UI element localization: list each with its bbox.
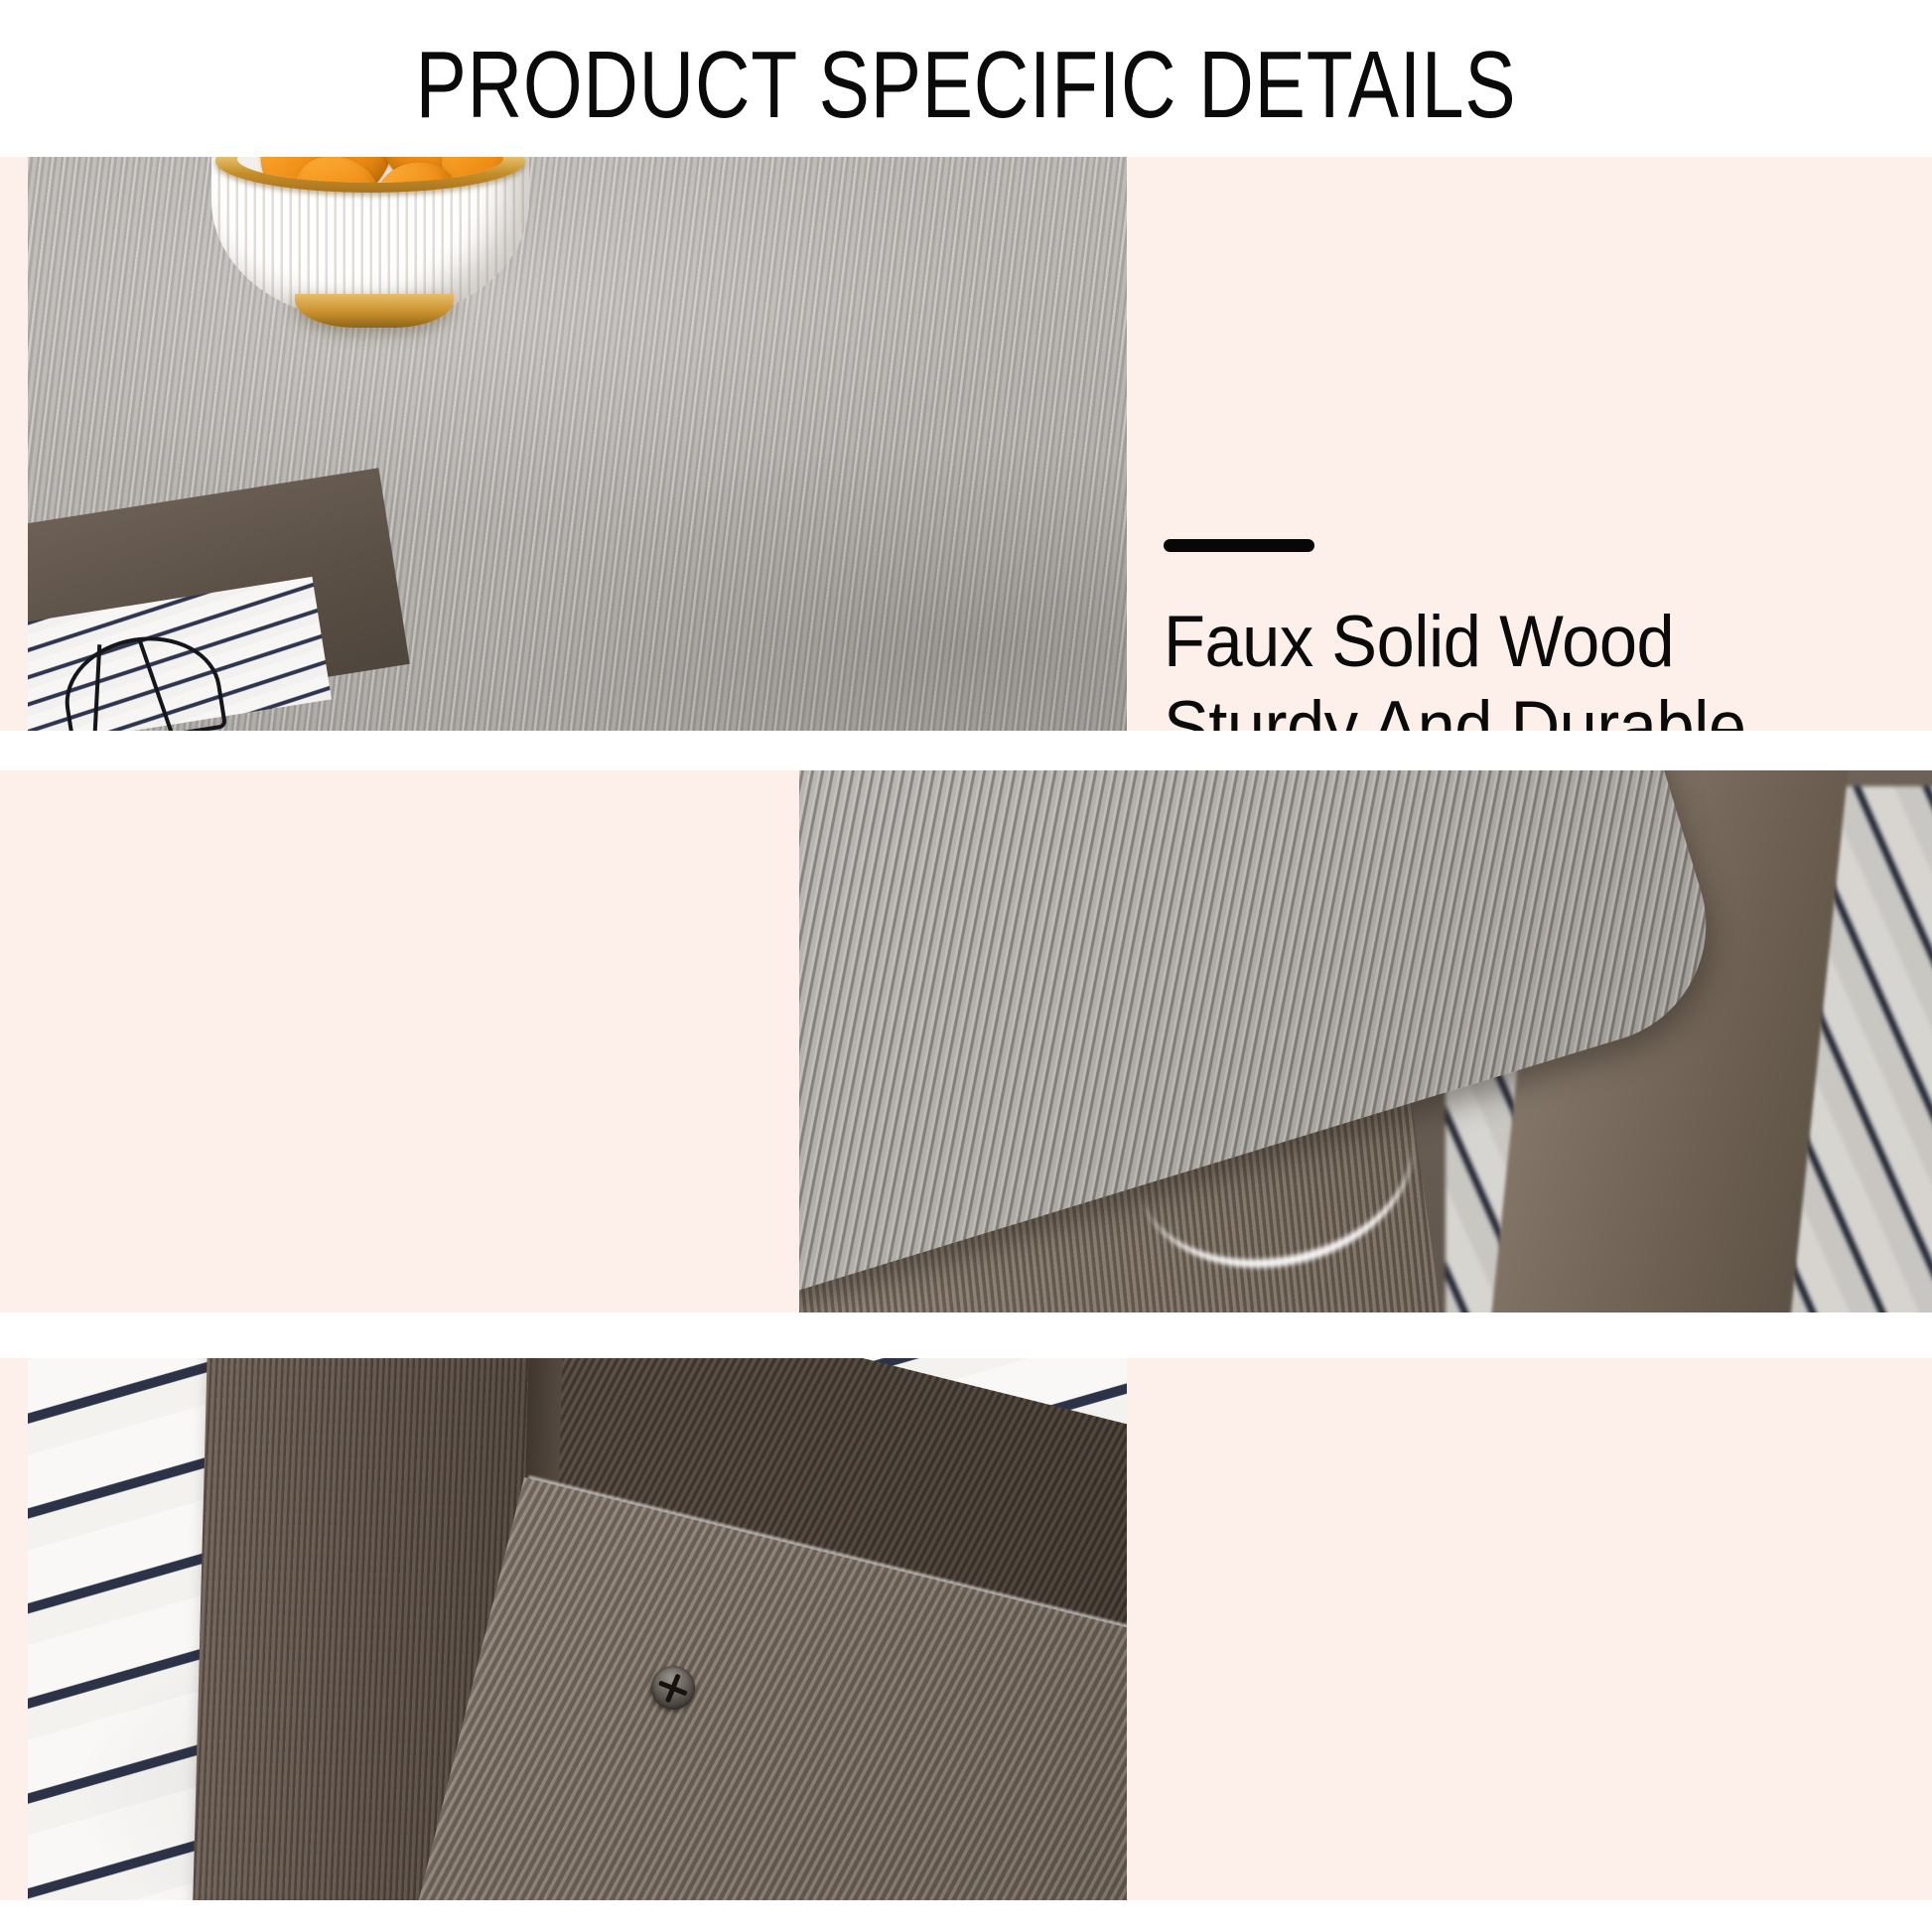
- feature-caption-line: Faux Solid Wood: [1164, 600, 1761, 685]
- leg-scene: [28, 1358, 1127, 1900]
- accent-dash-icon: [1164, 539, 1314, 552]
- bowl-interior: [237, 157, 503, 183]
- product-photo-rounded-corner: [799, 770, 1932, 1312]
- product-photo-table-top: [28, 157, 1127, 731]
- ceramic-bowl: [211, 157, 529, 357]
- detail-panel-faux-solid-wood: Faux Solid Wood Sturdy And Durable: [0, 157, 1932, 731]
- detail-panel-made-of-mdf: Made of MDF Stable Support: [0, 1358, 1932, 1900]
- page-title: PRODUCT SPECIFIC DETAILS: [194, 34, 1739, 137]
- detail-panel-rounded-edge: Rounded Edge Anti-knock: [0, 770, 1932, 1312]
- feature-caption-line: Sturdy And Durable: [1164, 685, 1761, 731]
- feature-caption: Faux Solid Wood Sturdy And Durable: [1164, 600, 1761, 731]
- corner-scene: [799, 770, 1932, 1312]
- product-details-page: PRODUCT SPECIFIC DETAILS: [0, 0, 1932, 1932]
- bowl-gold-foot: [295, 294, 454, 328]
- product-photo-leg-and-shelf: [28, 1358, 1127, 1900]
- feature-text-faux-solid-wood: Faux Solid Wood Sturdy And Durable: [1164, 539, 1799, 731]
